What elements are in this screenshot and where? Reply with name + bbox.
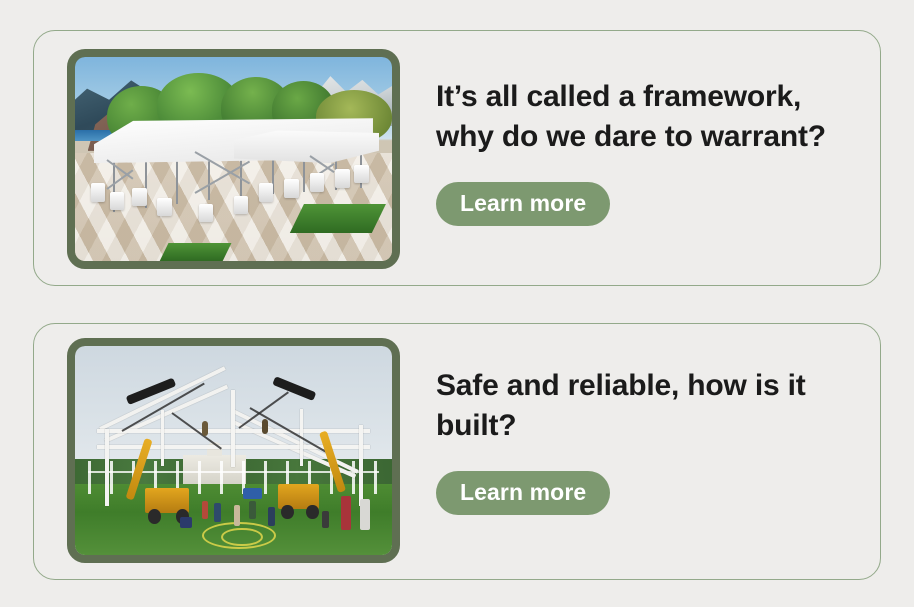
grass-patch: [290, 204, 386, 233]
concrete-ballast: [234, 196, 249, 214]
tent-framework-render-frame: [67, 49, 400, 269]
worker: [249, 501, 255, 520]
concrete-ballast: [199, 204, 214, 222]
equipment-bag: [180, 517, 193, 527]
worker-on-beam: [202, 421, 208, 436]
tarpaulin: [243, 488, 262, 498]
concrete-ballast: [335, 169, 350, 187]
worker: [322, 511, 328, 528]
card-headline: Safe and reliable, how is it built?: [436, 366, 858, 445]
frame-post: [161, 410, 164, 465]
worker: [360, 499, 370, 530]
crane-wheel: [148, 509, 161, 524]
worker: [234, 505, 240, 526]
crane-wheel: [281, 505, 294, 520]
page-root: It’s all called a framework, why do we d…: [0, 0, 914, 607]
concrete-ballast: [284, 179, 299, 197]
ridge-post: [231, 390, 235, 467]
concrete-ballast: [157, 198, 172, 216]
card-framework[interactable]: It’s all called a framework, why do we d…: [33, 30, 881, 286]
card-content: It’s all called a framework, why do we d…: [436, 77, 858, 226]
card-safe-reliable[interactable]: Safe and reliable, how is it built? Lear…: [33, 323, 881, 580]
worker-on-beam: [262, 419, 268, 434]
concrete-ballast: [132, 188, 147, 206]
grass-patch: [159, 243, 231, 261]
tent-framework-render: [75, 57, 392, 261]
concrete-ballast: [259, 183, 274, 201]
frame-leg: [105, 429, 109, 506]
worker: [268, 507, 274, 526]
concrete-ballast: [310, 173, 325, 191]
card-content: Safe and reliable, how is it built? Lear…: [436, 366, 858, 515]
frame-leg: [359, 425, 363, 505]
worker: [341, 496, 351, 529]
concrete-ballast: [354, 165, 369, 183]
learn-more-button[interactable]: Learn more: [436, 471, 610, 515]
tent-construction-photo-frame: [67, 338, 400, 563]
concrete-ballast: [110, 192, 125, 210]
concrete-ballast: [91, 183, 106, 201]
worker: [202, 501, 208, 520]
learn-more-button[interactable]: Learn more: [436, 182, 610, 226]
worker: [214, 503, 220, 522]
card-headline: It’s all called a framework, why do we d…: [436, 77, 858, 156]
tent-construction-photo: [75, 346, 392, 555]
